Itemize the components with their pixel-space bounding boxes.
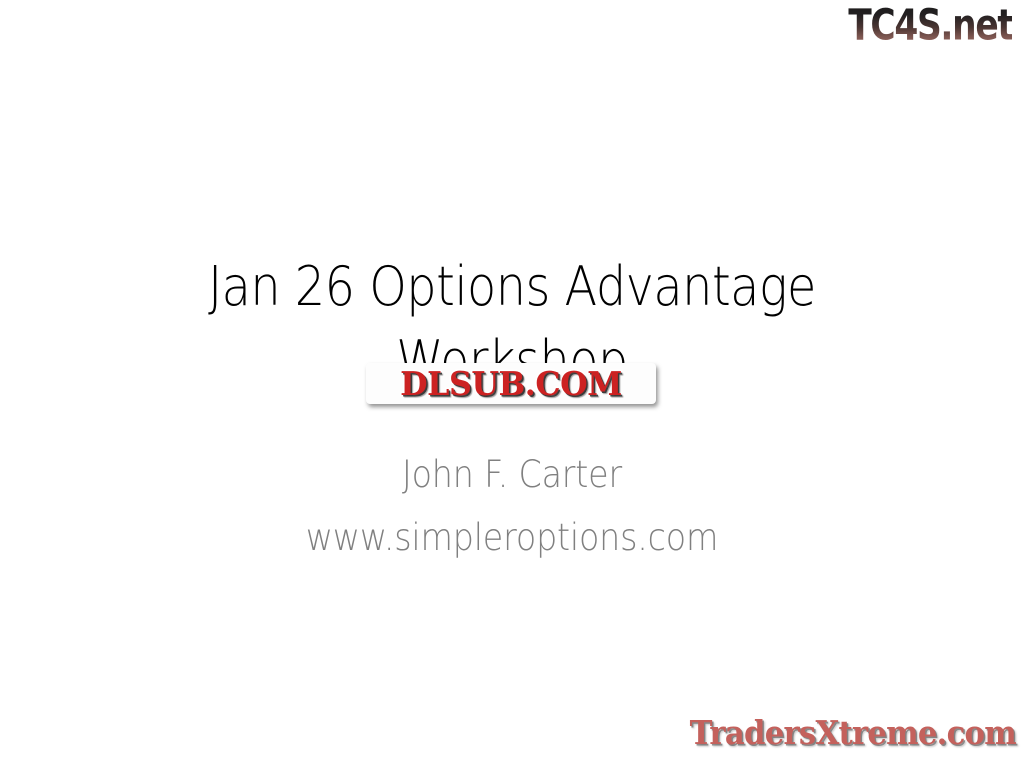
tradersxtreme-watermark: TradersXtreme.com xyxy=(665,713,1016,753)
presenter-website: www.simpleroptions.com xyxy=(141,506,883,569)
tc4s-watermark: TC4S.net xyxy=(817,3,1012,47)
slide-title-line-1: Jan 26 Options Advantage xyxy=(147,250,876,324)
dlsub-watermark: DLSUB.COM xyxy=(366,363,656,404)
presenter-name: John F. Carter xyxy=(141,443,883,506)
dlsub-watermark-text: DLSUB.COM xyxy=(372,363,650,404)
presentation-slide: Jan 26 Options Advantage Workshop John F… xyxy=(0,0,1024,768)
slide-subtitle: John F. Carter www.simpleroptions.com xyxy=(100,443,924,569)
tradersxtreme-watermark-text: TradersXtreme.com xyxy=(690,713,1016,753)
tc4s-watermark-text: TC4S.net xyxy=(848,2,1012,48)
